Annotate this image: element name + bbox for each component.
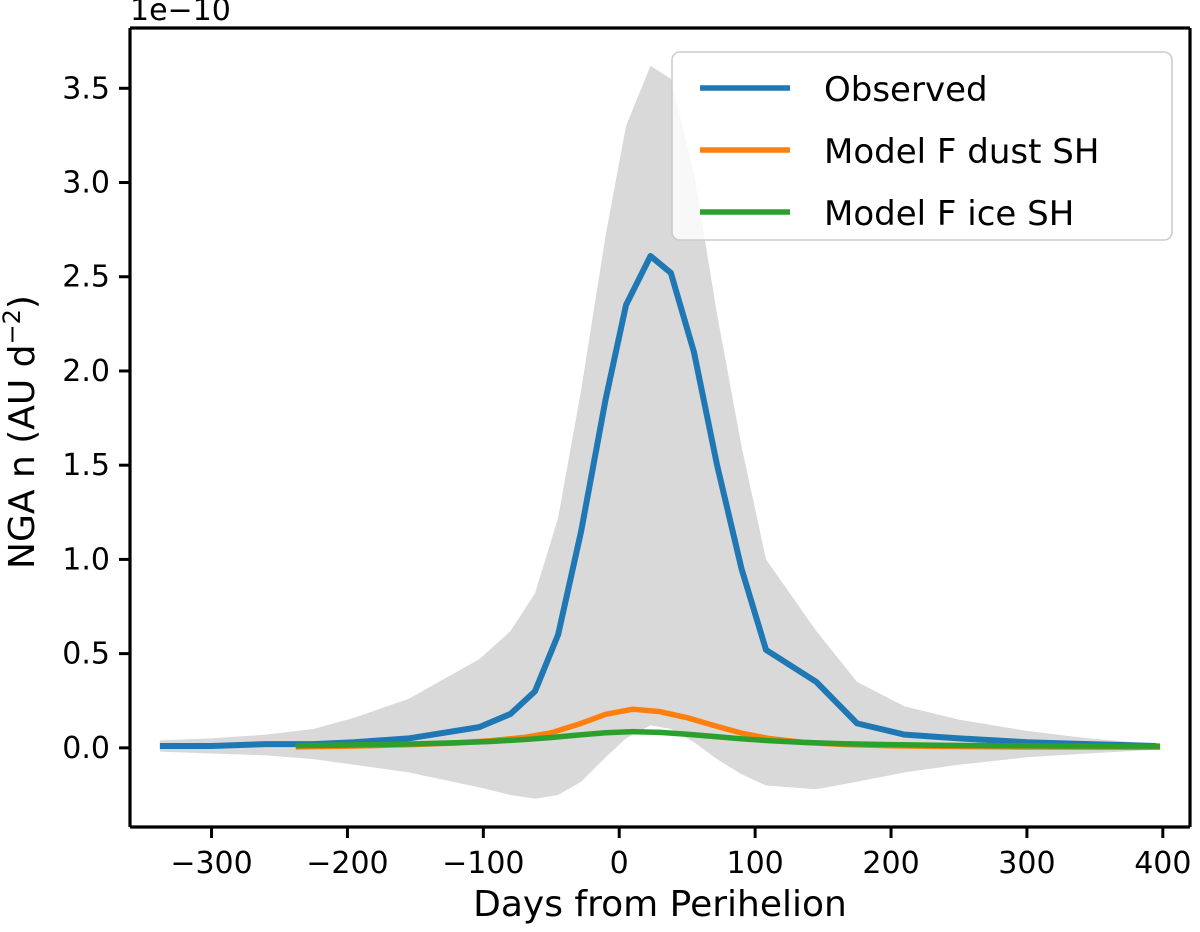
x-tick-label: 200 bbox=[862, 846, 919, 881]
figure-canvas: −300−200−1000100200300400 0.00.51.01.52.… bbox=[0, 0, 1200, 932]
x-tick-label: 100 bbox=[726, 846, 783, 881]
x-tick-label: 400 bbox=[1134, 846, 1191, 881]
x-axis-label: Days from Perihelion bbox=[473, 884, 847, 925]
legend-label: Observed bbox=[824, 70, 988, 110]
y-tick-label: 3.0 bbox=[62, 166, 110, 201]
y-axis-label: NGA n (AU d−2) bbox=[0, 295, 43, 569]
x-axis-ticks: −300−200−1000100200300400 bbox=[170, 827, 1191, 881]
y-tick-label: 2.0 bbox=[62, 354, 110, 389]
y-tick-label: 0.0 bbox=[62, 731, 110, 766]
legend-label: Model F dust SH bbox=[824, 132, 1099, 172]
x-tick-label: −200 bbox=[306, 846, 388, 881]
x-tick-label: 0 bbox=[610, 846, 629, 881]
y-tick-label: 1.5 bbox=[62, 448, 110, 483]
x-tick-label: −300 bbox=[170, 846, 252, 881]
y-tick-label: 3.5 bbox=[62, 71, 110, 106]
y-axis-offset-text: 1e−10 bbox=[130, 0, 231, 28]
y-tick-label: 0.5 bbox=[62, 637, 110, 672]
y-axis-ticks: 0.00.51.01.52.02.53.03.5 bbox=[62, 71, 130, 766]
y-tick-label: 2.5 bbox=[62, 260, 110, 295]
x-tick-label: −100 bbox=[442, 846, 524, 881]
x-tick-label: 300 bbox=[998, 846, 1055, 881]
y-tick-label: 1.0 bbox=[62, 542, 110, 577]
chart-plot[interactable]: −300−200−1000100200300400 0.00.51.01.52.… bbox=[0, 0, 1200, 932]
chart-legend[interactable]: ObservedModel F dust SHModel F ice SH bbox=[672, 52, 1172, 240]
legend-label: Model F ice SH bbox=[824, 194, 1074, 234]
